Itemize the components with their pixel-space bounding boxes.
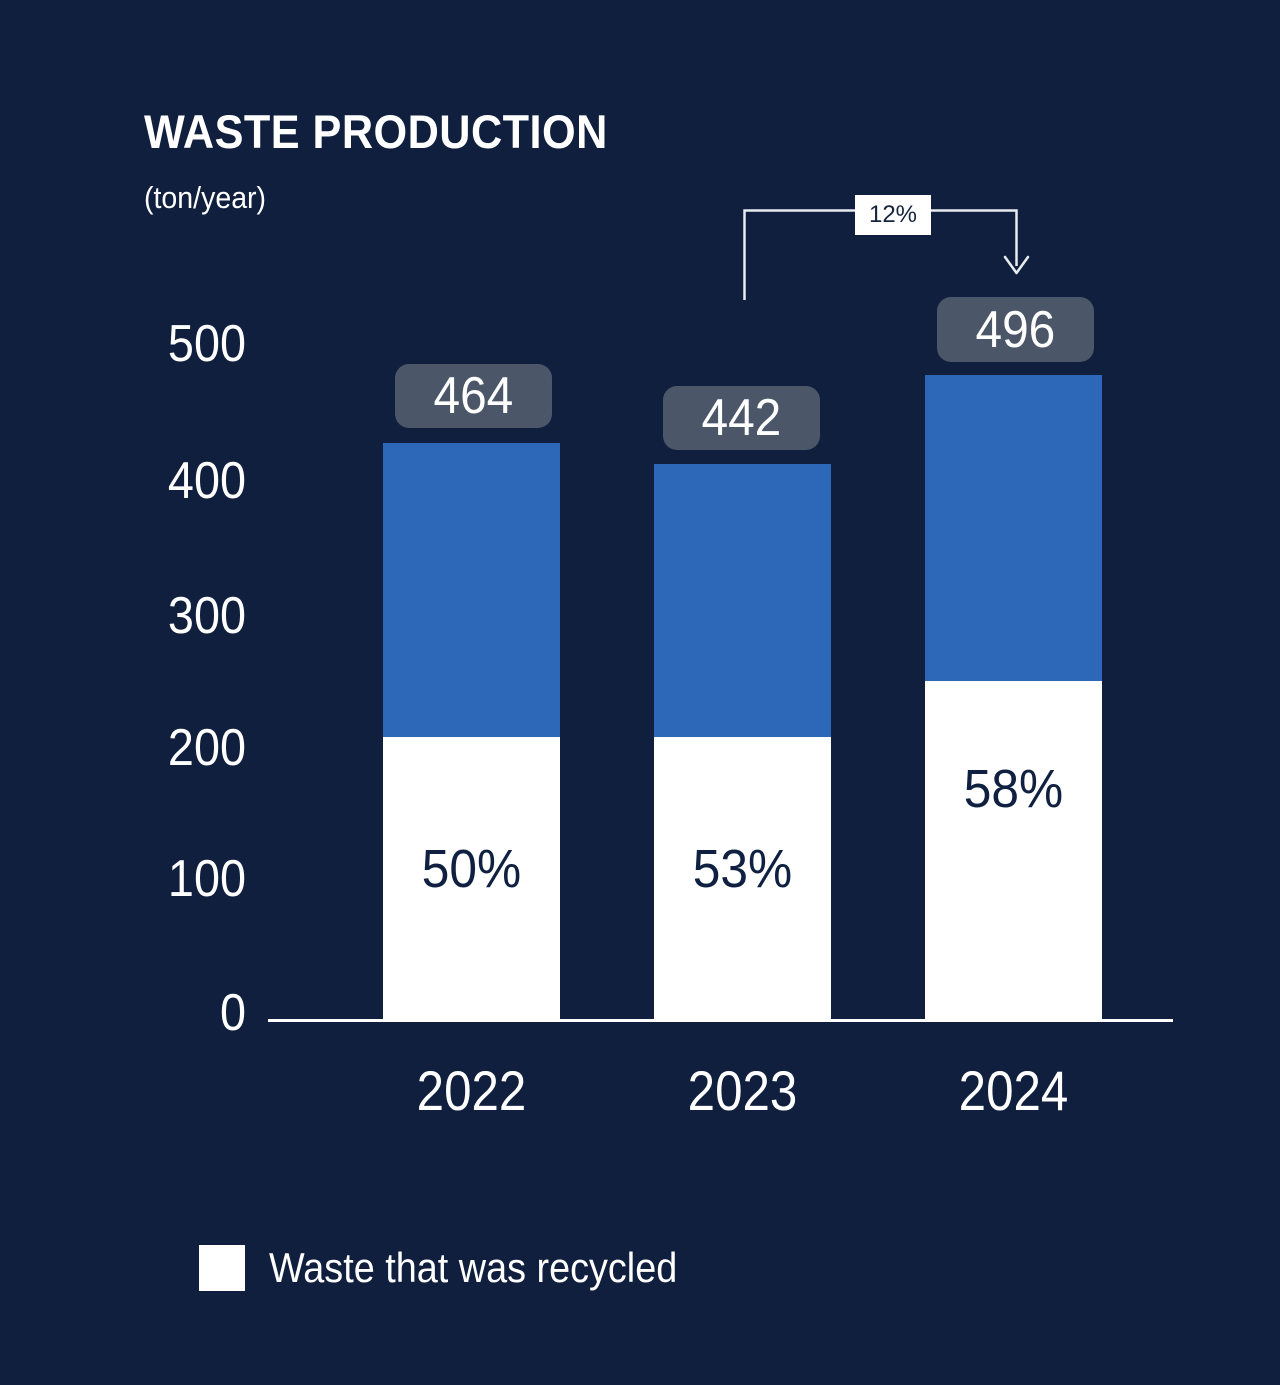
value-badge-2022: 464 <box>395 364 552 428</box>
bar-2022[interactable]: 50% <box>383 443 560 1021</box>
bar-2023[interactable]: 53% <box>654 464 831 1021</box>
value-badge-2023: 442 <box>663 386 820 450</box>
value-badge-text-2024: 496 <box>976 304 1056 356</box>
bar-segment-recycled-2023: 53% <box>654 737 831 1021</box>
chart-subtitle: (ton/year) <box>144 182 266 213</box>
x-axis-label-2022: 2022 <box>394 1063 550 1119</box>
bar-segment-recycled-2022: 50% <box>383 737 560 1021</box>
y-axis-tick-400: 400 <box>48 455 246 507</box>
x-axis-label-2024: 2024 <box>936 1063 1092 1119</box>
bar-segment-recycled-2024: 58% <box>925 681 1102 1021</box>
recycled-pct-2022: 50% <box>390 842 553 896</box>
x-axis-label-2023: 2023 <box>665 1063 821 1119</box>
chart-canvas: WASTE PRODUCTION (ton/year) 500 400 300 … <box>0 0 1280 1385</box>
value-badge-2024: 496 <box>937 297 1094 362</box>
y-axis-tick-500: 500 <box>48 318 246 370</box>
value-badge-text-2022: 464 <box>434 370 514 422</box>
delta-annotation-value: 12% <box>869 203 917 227</box>
y-axis-tick-100: 100 <box>48 853 246 905</box>
value-badge-text-2023: 442 <box>702 392 782 444</box>
legend-swatch-recycled <box>199 1245 245 1291</box>
page-title: WASTE PRODUCTION <box>144 108 608 155</box>
legend-label-recycled: Waste that was recycled <box>269 1245 677 1291</box>
delta-annotation-label: 12% <box>855 195 931 235</box>
bar-2024[interactable]: 58% <box>925 375 1102 1021</box>
recycled-pct-2024: 58% <box>932 762 1095 816</box>
y-axis-tick-200: 200 <box>48 722 246 774</box>
y-axis-tick-0: 0 <box>48 987 246 1039</box>
recycled-pct-2023: 53% <box>661 842 824 896</box>
y-axis-tick-300: 300 <box>48 590 246 642</box>
